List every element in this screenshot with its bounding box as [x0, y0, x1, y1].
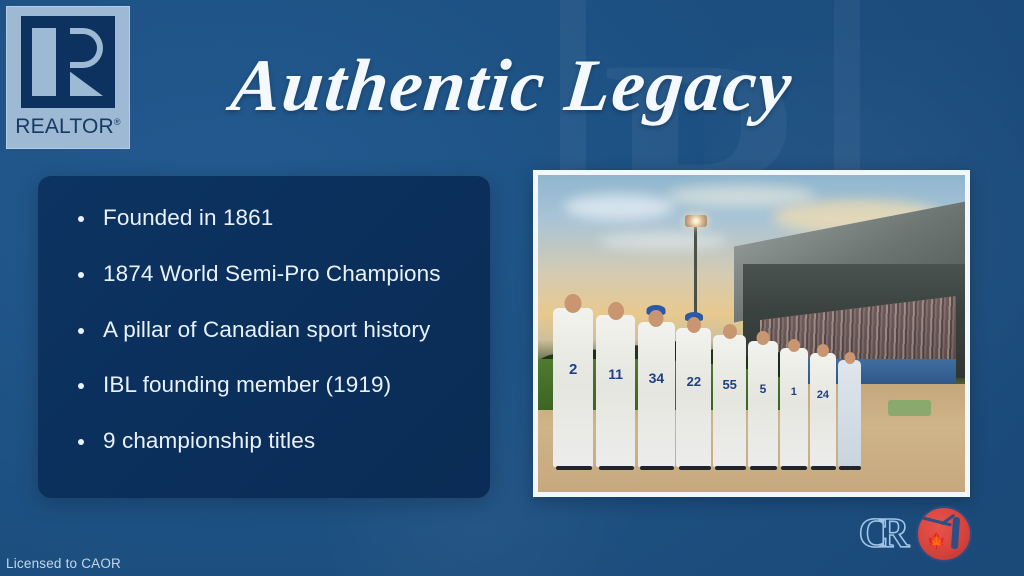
ibl-roundel-logo-icon: 🍁	[916, 506, 972, 562]
stadium-light-icon	[685, 215, 707, 227]
jersey-number: 5	[760, 383, 767, 395]
cr-monogram-text: CR	[854, 507, 904, 561]
bullet-card: Founded in 1861 1874 World Semi-Pro Cham…	[38, 176, 490, 498]
jersey-number: 11	[608, 367, 623, 381]
jersey-number: 24	[817, 390, 829, 401]
player	[838, 360, 861, 467]
player-lineup: 2 11 34 22	[547, 302, 880, 467]
player: 5	[748, 341, 778, 466]
bottom-logo-group: CR 🍁	[854, 506, 972, 562]
license-footer: Licensed to CAOR	[6, 556, 121, 571]
bullet-list: Founded in 1861 1874 World Semi-Pro Cham…	[74, 206, 464, 454]
batter-silhouette-icon	[951, 517, 960, 549]
player: 22	[676, 328, 711, 466]
list-item: A pillar of Canadian sport history	[74, 318, 464, 343]
player: 24	[810, 353, 837, 467]
jersey-number: 2	[569, 362, 577, 377]
list-item: 9 championship titles	[74, 429, 464, 454]
jersey-number: 22	[687, 375, 701, 388]
list-item: IBL founding member (1919)	[74, 373, 464, 398]
player: 2	[553, 308, 593, 466]
jersey-number: 34	[649, 371, 665, 385]
page-title: Authentic Legacy	[0, 44, 1024, 129]
player: 11	[596, 315, 634, 467]
cr-monogram-logo-icon: CR	[854, 507, 904, 561]
list-item: Founded in 1861	[74, 206, 464, 231]
slide-canvas: R REALTOR® Authentic Legacy Founded in 1…	[0, 0, 1024, 576]
jersey-number: 55	[722, 378, 736, 391]
list-item: 1874 World Semi-Pro Champions	[74, 262, 464, 287]
baseball-team-photo: 2 11 34 22	[538, 175, 965, 492]
photo-frame: 2 11 34 22	[533, 170, 970, 497]
base-marker	[888, 400, 931, 416]
jersey-number: 1	[791, 387, 797, 398]
player: 34	[638, 322, 675, 467]
player: 55	[713, 335, 746, 467]
maple-leaf-icon: 🍁	[927, 534, 946, 549]
player: 1	[780, 348, 808, 467]
